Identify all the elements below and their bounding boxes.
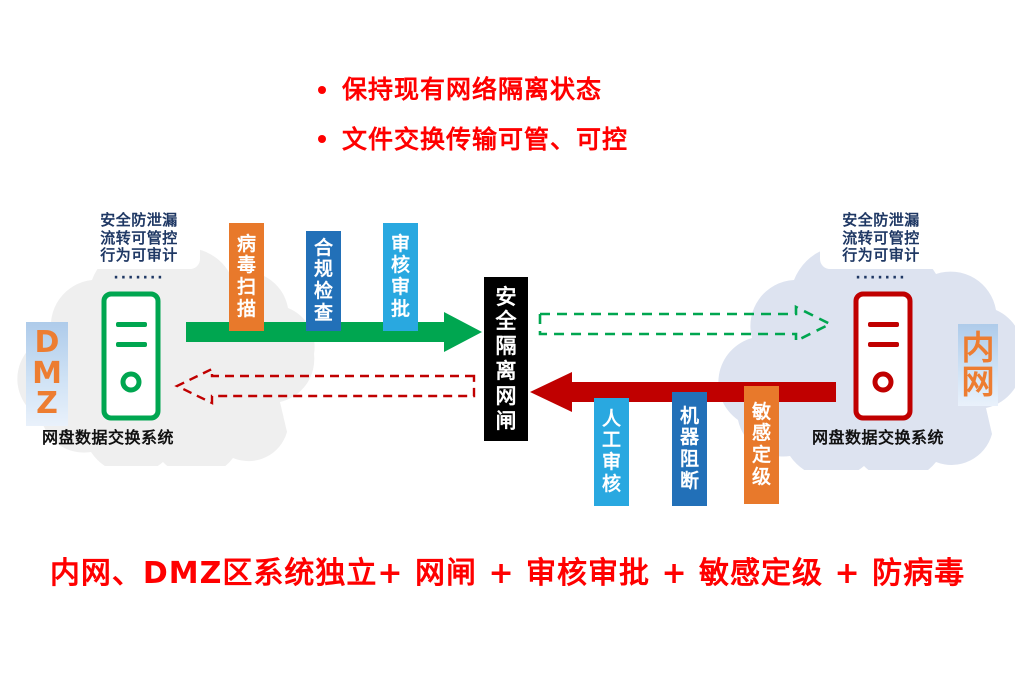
tag-review-char-4: 批 <box>391 299 410 321</box>
tag-compliance-char-4: 查 <box>314 303 333 325</box>
bullet-list: 保持现有网络隔离状态 文件交换传输可管、可控 <box>318 76 878 175</box>
tag-manual-char-4: 核 <box>602 474 621 496</box>
tag-review-char-2: 核 <box>391 255 410 277</box>
bullet-item-1: 保持现有网络隔离状态 <box>318 76 878 104</box>
tag-sensitivity-char-3: 定 <box>752 445 771 467</box>
tag-sensitivity-grading: 敏 感 定 级 <box>744 386 779 504</box>
dmz-callout: 安全防泄漏 流转可管控 行为可审计 ······· <box>78 206 200 285</box>
bullet-text-2: 文件交换传输可管、可控 <box>342 126 628 154</box>
tag-manual-review: 人 工 审 核 <box>594 398 629 506</box>
tag-virus-scan-char-4: 描 <box>237 299 256 321</box>
tag-machine-char-4: 断 <box>680 471 699 493</box>
tag-sensitivity-char-1: 敏 <box>752 402 771 424</box>
tag-virus-scan-char-2: 毒 <box>237 255 256 277</box>
dmz-callout-dots: ······· <box>78 271 200 285</box>
intranet-server-icon <box>852 290 914 426</box>
dmz-callout-line-3: 行为可审计 <box>87 247 191 265</box>
bullet-dot-icon <box>318 86 326 94</box>
arrow-inbound-red-dashed <box>174 368 474 404</box>
dmz-callout-box: 安全防泄漏 流转可管控 行为可审计 <box>78 206 200 269</box>
intranet-callout-line-3: 行为可审计 <box>829 247 933 265</box>
gateway-char-5: 网 <box>496 384 517 409</box>
zone-char-nei: 内 <box>962 331 995 365</box>
tag-compliance-check: 合 规 检 查 <box>306 231 341 331</box>
tag-compliance-char-1: 合 <box>314 238 333 260</box>
tag-virus-scan-char-3: 扫 <box>237 277 256 299</box>
zone-char-d: D <box>35 328 60 359</box>
zone-char-wang: 网 <box>962 365 995 399</box>
tag-machine-char-1: 机 <box>680 406 699 428</box>
intranet-system-caption: 网盘数据交换系统 <box>812 424 944 448</box>
tag-review-approval: 审 核 审 批 <box>383 223 418 331</box>
tag-sensitivity-char-2: 感 <box>752 423 771 445</box>
tag-machine-char-2: 器 <box>680 427 699 449</box>
tag-sensitivity-char-4: 级 <box>752 467 771 489</box>
dmz-callout-line-1: 安全防泄漏 <box>87 212 191 230</box>
gateway-char-1: 安 <box>496 285 517 310</box>
zone-char-m: M <box>32 359 62 390</box>
intranet-callout: 安全防泄漏 流转可管控 行为可审计 ······· <box>820 206 942 285</box>
gateway-char-2: 全 <box>496 309 517 334</box>
gateway-char-6: 闸 <box>496 409 517 434</box>
intranet-callout-dots: ······· <box>820 271 942 285</box>
intranet-callout-line-1: 安全防泄漏 <box>829 212 933 230</box>
security-gateway: 安 全 隔 离 网 闸 <box>484 277 528 441</box>
tag-manual-char-3: 审 <box>602 452 621 474</box>
tag-machine-block: 机 器 阻 断 <box>672 392 707 506</box>
dmz-callout-line-2: 流转可管控 <box>87 230 191 248</box>
intranet-callout-box: 安全防泄漏 流转可管控 行为可审计 <box>820 206 942 269</box>
tag-machine-char-3: 阻 <box>680 449 699 471</box>
bullet-text-1: 保持现有网络隔离状态 <box>342 76 602 104</box>
dmz-system-caption: 网盘数据交换系统 <box>42 424 174 448</box>
gateway-char-4: 离 <box>496 359 517 384</box>
tag-virus-scan-char-1: 病 <box>237 234 256 256</box>
zone-char-z: Z <box>36 389 58 420</box>
tag-review-char-3: 审 <box>391 277 410 299</box>
tag-compliance-char-2: 规 <box>314 259 333 281</box>
bullet-dot-icon <box>318 135 326 143</box>
intranet-callout-line-2: 流转可管控 <box>829 230 933 248</box>
dmz-server-icon <box>100 290 162 426</box>
tag-compliance-char-3: 检 <box>314 281 333 303</box>
zone-label-intranet: 内 网 <box>958 324 998 406</box>
tag-manual-char-1: 人 <box>602 409 621 431</box>
diagram-canvas: 保持现有网络隔离状态 文件交换传输可管、可控 安全防泄漏 流转可管控 行为可审计… <box>0 0 1015 675</box>
tag-virus-scan: 病 毒 扫 描 <box>229 223 264 331</box>
tag-manual-char-2: 工 <box>602 430 621 452</box>
gateway-char-3: 隔 <box>496 334 517 359</box>
bullet-item-2: 文件交换传输可管、可控 <box>318 126 878 154</box>
zone-label-dmz: D M Z <box>26 322 68 426</box>
arrow-return-green-dashed <box>540 306 832 342</box>
tag-review-char-1: 审 <box>391 234 410 256</box>
summary-text: 内网、DMZ区系统独立+ 网闸 + 审核审批 + 敏感定级 + 防病毒 <box>0 548 1015 592</box>
